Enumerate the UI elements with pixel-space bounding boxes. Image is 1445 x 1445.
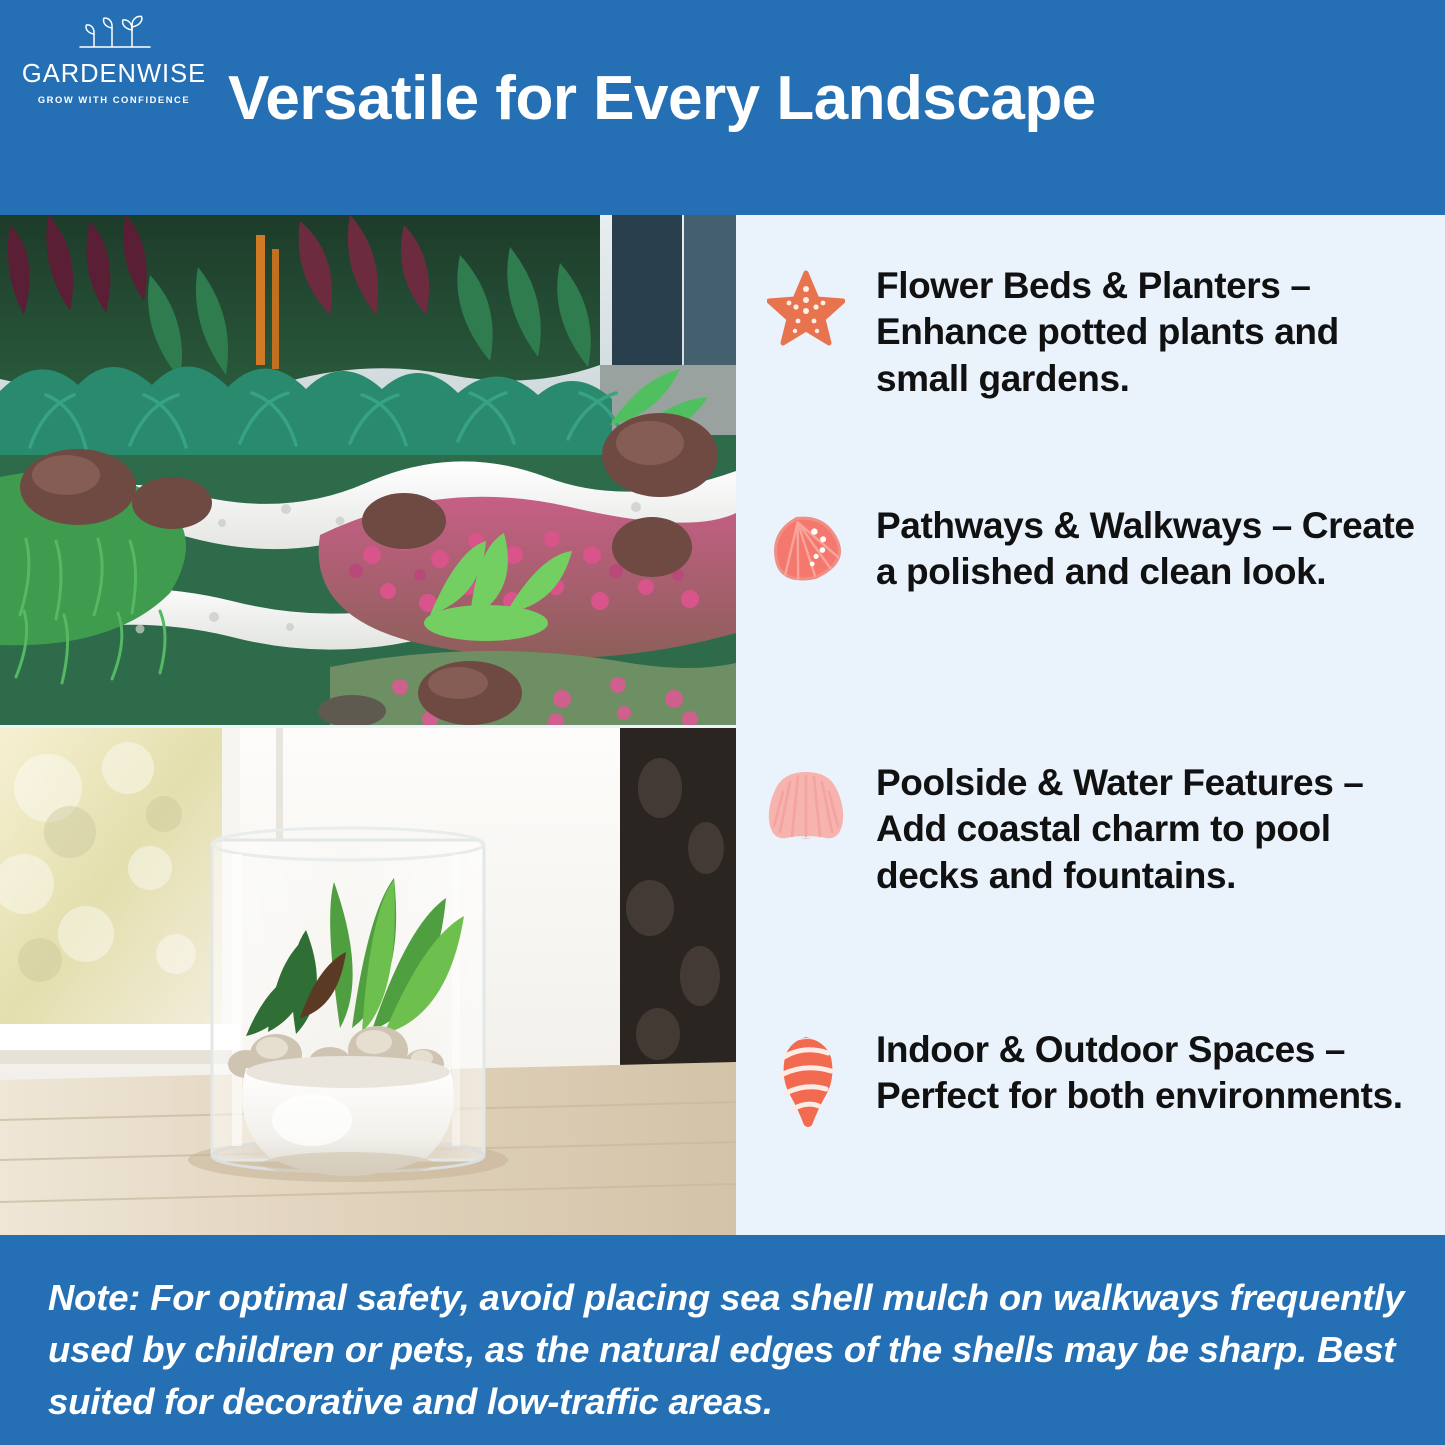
brand-tagline: GROW WITH CONFIDENCE	[14, 94, 214, 105]
planter-illustration	[0, 728, 736, 1235]
safety-note: Note: For optimal safety, avoid placing …	[48, 1272, 1408, 1427]
clam-shell-icon	[736, 503, 876, 596]
infographic-page: GARDENWISE GROW WITH CONFIDENCE Versatil…	[0, 0, 1445, 1445]
feature-text: Flower Beds & Planters – Enhance potted …	[876, 263, 1445, 402]
brand-logo: GARDENWISE GROW WITH CONFIDENCE	[14, 12, 214, 105]
photo-windowsill-planter	[0, 728, 736, 1235]
photo-tropical-garden	[0, 215, 736, 725]
brand-name: GARDENWISE	[14, 62, 214, 88]
feature-text: Pathways & Walkways – Create a polished …	[876, 503, 1445, 596]
feature-list: Flower Beds & Planters – Enhance potted …	[736, 215, 1445, 1235]
feature-item-poolside: Poolside & Water Features – Add coastal …	[736, 760, 1445, 899]
feature-item-indoor-outdoor: Indoor & Outdoor Spaces – Perfect for bo…	[736, 1027, 1445, 1129]
feature-item-pathways: Pathways & Walkways – Create a polished …	[736, 503, 1445, 596]
header-bar: GARDENWISE GROW WITH CONFIDENCE Versatil…	[0, 0, 1445, 215]
feature-text: Poolside & Water Features – Add coastal …	[876, 760, 1445, 899]
feature-item-flower-beds: Flower Beds & Planters – Enhance potted …	[736, 263, 1445, 402]
starfish-icon	[736, 263, 876, 402]
garden-illustration	[0, 215, 736, 725]
content-area: Flower Beds & Planters – Enhance potted …	[0, 215, 1445, 1235]
footer-bar: Note: For optimal safety, avoid placing …	[0, 1235, 1445, 1445]
photo-column	[0, 215, 736, 1235]
conch-shell-icon	[736, 1027, 876, 1129]
feature-text: Indoor & Outdoor Spaces – Perfect for bo…	[876, 1027, 1445, 1129]
page-title: Versatile for Every Landscape	[228, 66, 1428, 131]
scallop-shell-icon	[736, 760, 876, 899]
sprout-leaves-icon	[64, 12, 164, 60]
